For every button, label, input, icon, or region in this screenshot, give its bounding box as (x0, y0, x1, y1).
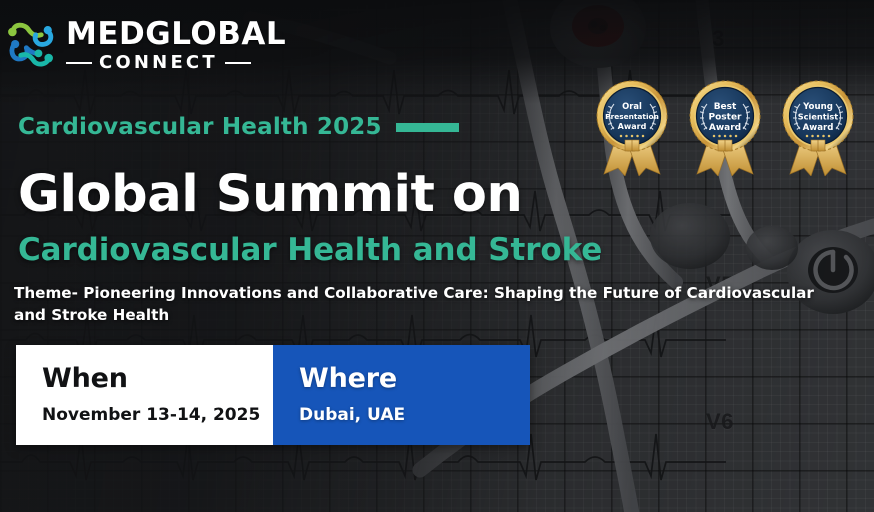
badge-2-line3: Award (803, 123, 834, 133)
event-theme-text: Theme- Pioneering Innovations and Collab… (14, 283, 840, 326)
network-nodes-logo-icon (4, 16, 58, 74)
when-label: When (42, 365, 273, 392)
brand-rule-right (225, 62, 251, 64)
conference-banner: V3 V5 V6 (0, 0, 874, 512)
badge-0-line3: Award (618, 122, 647, 131)
badge-2-line1: Young (802, 102, 833, 112)
brand-logo[interactable]: MEDGLOBAL CONNECT (4, 16, 286, 74)
badge-0-line1: Oral (622, 101, 642, 111)
eyebrow-row: Cardiovascular Health 2025 (18, 114, 459, 140)
badge-2-line2: Scientist (798, 112, 839, 122)
brand-sub: CONNECT (99, 54, 218, 72)
eyebrow-accent-bar (396, 123, 459, 132)
badge-1-line1: Best (714, 102, 737, 112)
award-badges: Oral Presentation Award (588, 78, 862, 176)
page-subtitle: Cardiovascular Health and Stroke (18, 232, 602, 268)
event-details-row: When November 13-14, 2025 Where Dubai, U… (16, 345, 530, 445)
when-value: November 13-14, 2025 (42, 407, 273, 424)
award-badge-young-scientist: Young Scientist Award (774, 78, 862, 176)
banner-content: MEDGLOBAL CONNECT Cardiovascular Health … (0, 0, 874, 512)
where-label: Where (299, 365, 530, 392)
award-badge-best-poster: Best Poster Award (681, 78, 769, 176)
page-title: Global Summit on (18, 168, 522, 221)
where-box: Where Dubai, UAE (273, 345, 530, 445)
eyebrow-text: Cardiovascular Health 2025 (18, 114, 382, 140)
brand-sub-row: CONNECT (66, 54, 286, 72)
badge-1-line2: Poster (709, 113, 743, 123)
when-box: When November 13-14, 2025 (16, 345, 273, 445)
where-value: Dubai, UAE (299, 407, 530, 424)
brand-wordmark: MEDGLOBAL CONNECT (66, 19, 286, 72)
badge-0-line2: Presentation (605, 112, 659, 121)
badge-1-line3: Award (709, 123, 741, 133)
brand-rule-left (66, 62, 92, 64)
brand-name: MEDGLOBAL (66, 19, 286, 50)
award-badge-oral-presentation: Oral Presentation Award (588, 78, 676, 176)
